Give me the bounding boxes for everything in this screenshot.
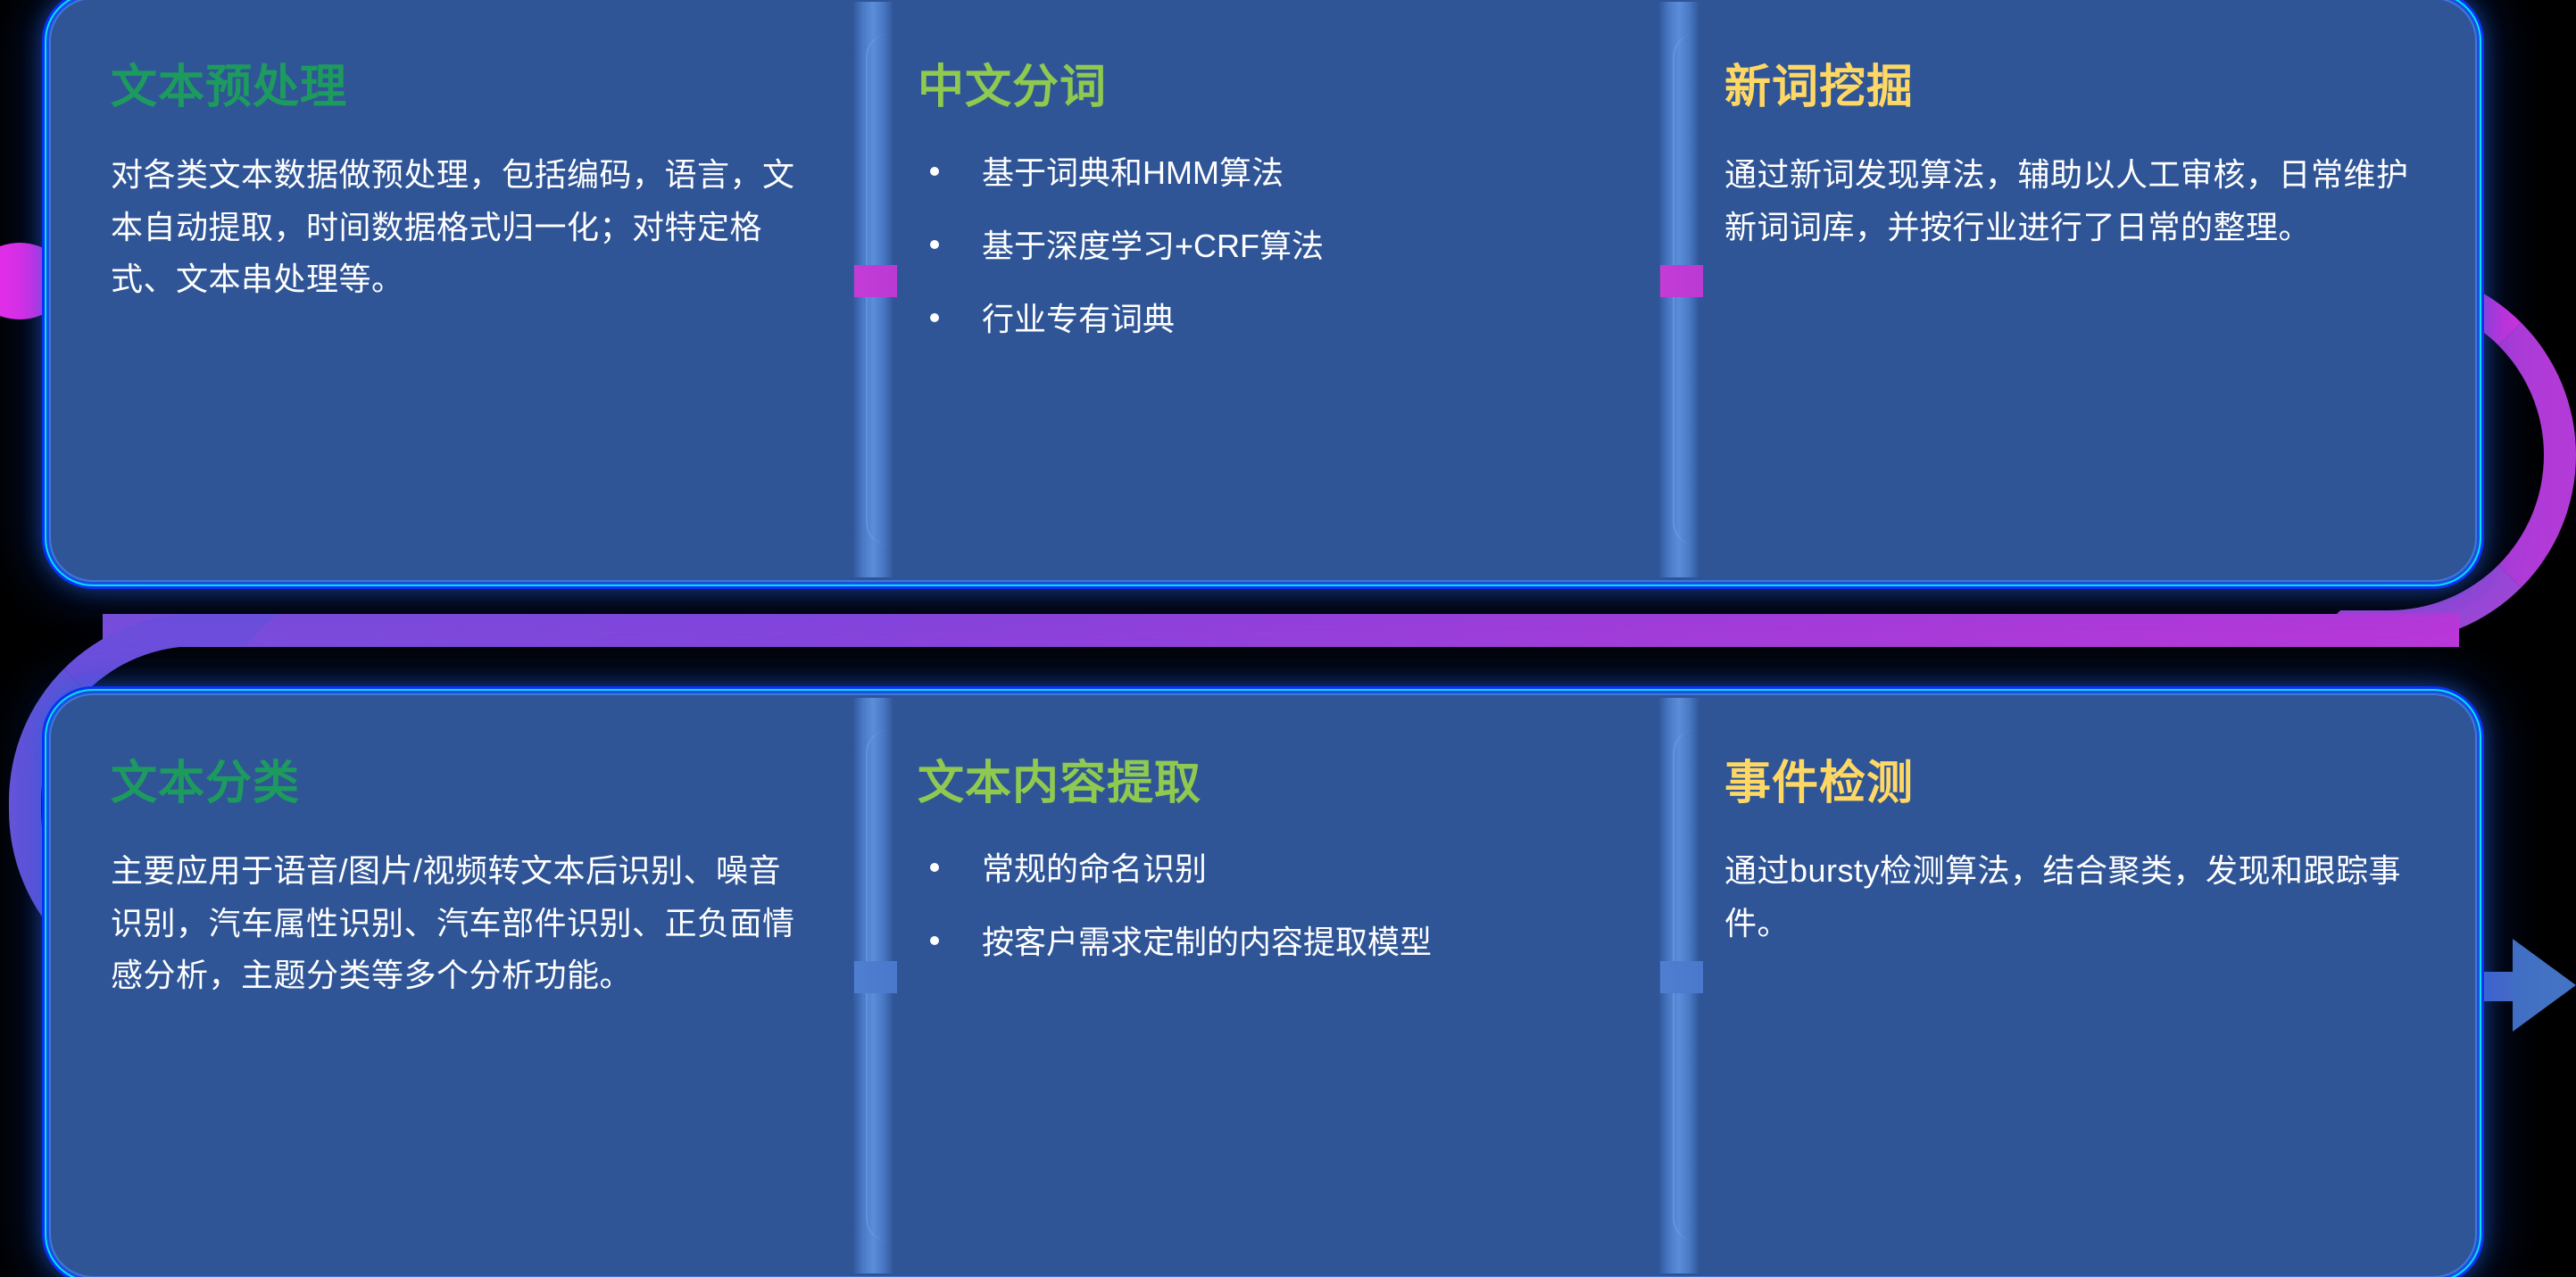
diagram-canvas: 文本预处理 对各类文本数据做预处理，包括编码，语言，文本自动提取，时间数据格式归… — [0, 0, 2576, 1277]
top-row-panel: 文本预处理 对各类文本数据做预处理，包括编码，语言，文本自动提取，时间数据格式归… — [54, 2, 2472, 577]
bottom-row: 文本分类 主要应用于语音/图片/视频转文本后识别、噪音识别，汽车属性识别、汽车部… — [54, 698, 2472, 1273]
card-bullet-list: 基于词典和HMM算法 基于深度学习+CRF算法 行业专有词典 — [918, 149, 1608, 344]
list-item: 基于词典和HMM算法 — [918, 149, 1608, 197]
card-paragraph: 主要应用于语音/图片/视频转文本后识别、噪音识别，汽车属性识别、汽车部件识别、正… — [111, 845, 802, 1001]
list-item: 基于深度学习+CRF算法 — [918, 222, 1608, 270]
card-text-preprocessing[interactable]: 文本预处理 对各类文本数据做预处理，包括编码，语言，文本自动提取，时间数据格式归… — [61, 34, 852, 545]
card-chinese-segmentation[interactable]: 中文分词 基于词典和HMM算法 基于深度学习+CRF算法 行业专有词典 — [866, 34, 1658, 545]
card-content-extraction[interactable]: 文本内容提取 常规的命名识别 按客户需求定制的内容提取模型 — [866, 730, 1658, 1241]
card-title: 文本预处理 — [111, 62, 802, 113]
connector-chip-blue — [1660, 961, 1703, 993]
list-item: 常规的命名识别 — [918, 845, 1608, 893]
card-text-classification[interactable]: 文本分类 主要应用于语音/图片/视频转文本后识别、噪音识别，汽车属性识别、汽车部… — [61, 730, 852, 1241]
list-item: 按客户需求定制的内容提取模型 — [918, 918, 1608, 966]
card-new-word-mining[interactable]: 新词挖掘 通过新词发现算法，辅助以人工审核，日常维护新词词库，并按行业进行了日常… — [1673, 34, 2465, 545]
card-event-detection[interactable]: 事件检测 通过bursty检测算法，结合聚类，发现和跟踪事件。 — [1673, 730, 2465, 1241]
card-paragraph: 对各类文本数据做预处理，包括编码，语言，文本自动提取，时间数据格式归一化；对特定… — [111, 149, 802, 305]
card-title: 新词挖掘 — [1724, 62, 2415, 113]
top-row: 文本预处理 对各类文本数据做预处理，包括编码，语言，文本自动提取，时间数据格式归… — [54, 2, 2472, 577]
card-title: 中文分词 — [918, 62, 1608, 113]
connector-chip-magenta — [854, 265, 897, 297]
bottom-row-panel: 文本分类 主要应用于语音/图片/视频转文本后识别、噪音识别，汽车属性识别、汽车部… — [54, 698, 2472, 1273]
card-title: 文本内容提取 — [918, 759, 1608, 809]
card-paragraph: 通过bursty检测算法，结合聚类，发现和跟踪事件。 — [1724, 845, 2415, 949]
card-title: 文本分类 — [111, 759, 802, 809]
list-item: 行业专有词典 — [918, 295, 1608, 344]
card-bullet-list: 常规的命名识别 按客户需求定制的内容提取模型 — [918, 845, 1608, 966]
connector-chip-blue — [854, 961, 897, 993]
card-paragraph: 通过新词发现算法，辅助以人工审核，日常维护新词词库，并按行业进行了日常的整理。 — [1724, 149, 2415, 253]
flow-band-middle — [103, 614, 2459, 647]
connector-chip-magenta — [1660, 265, 1703, 297]
flow-end-arrow-head — [2513, 939, 2576, 1032]
card-title: 事件检测 — [1724, 759, 2415, 809]
